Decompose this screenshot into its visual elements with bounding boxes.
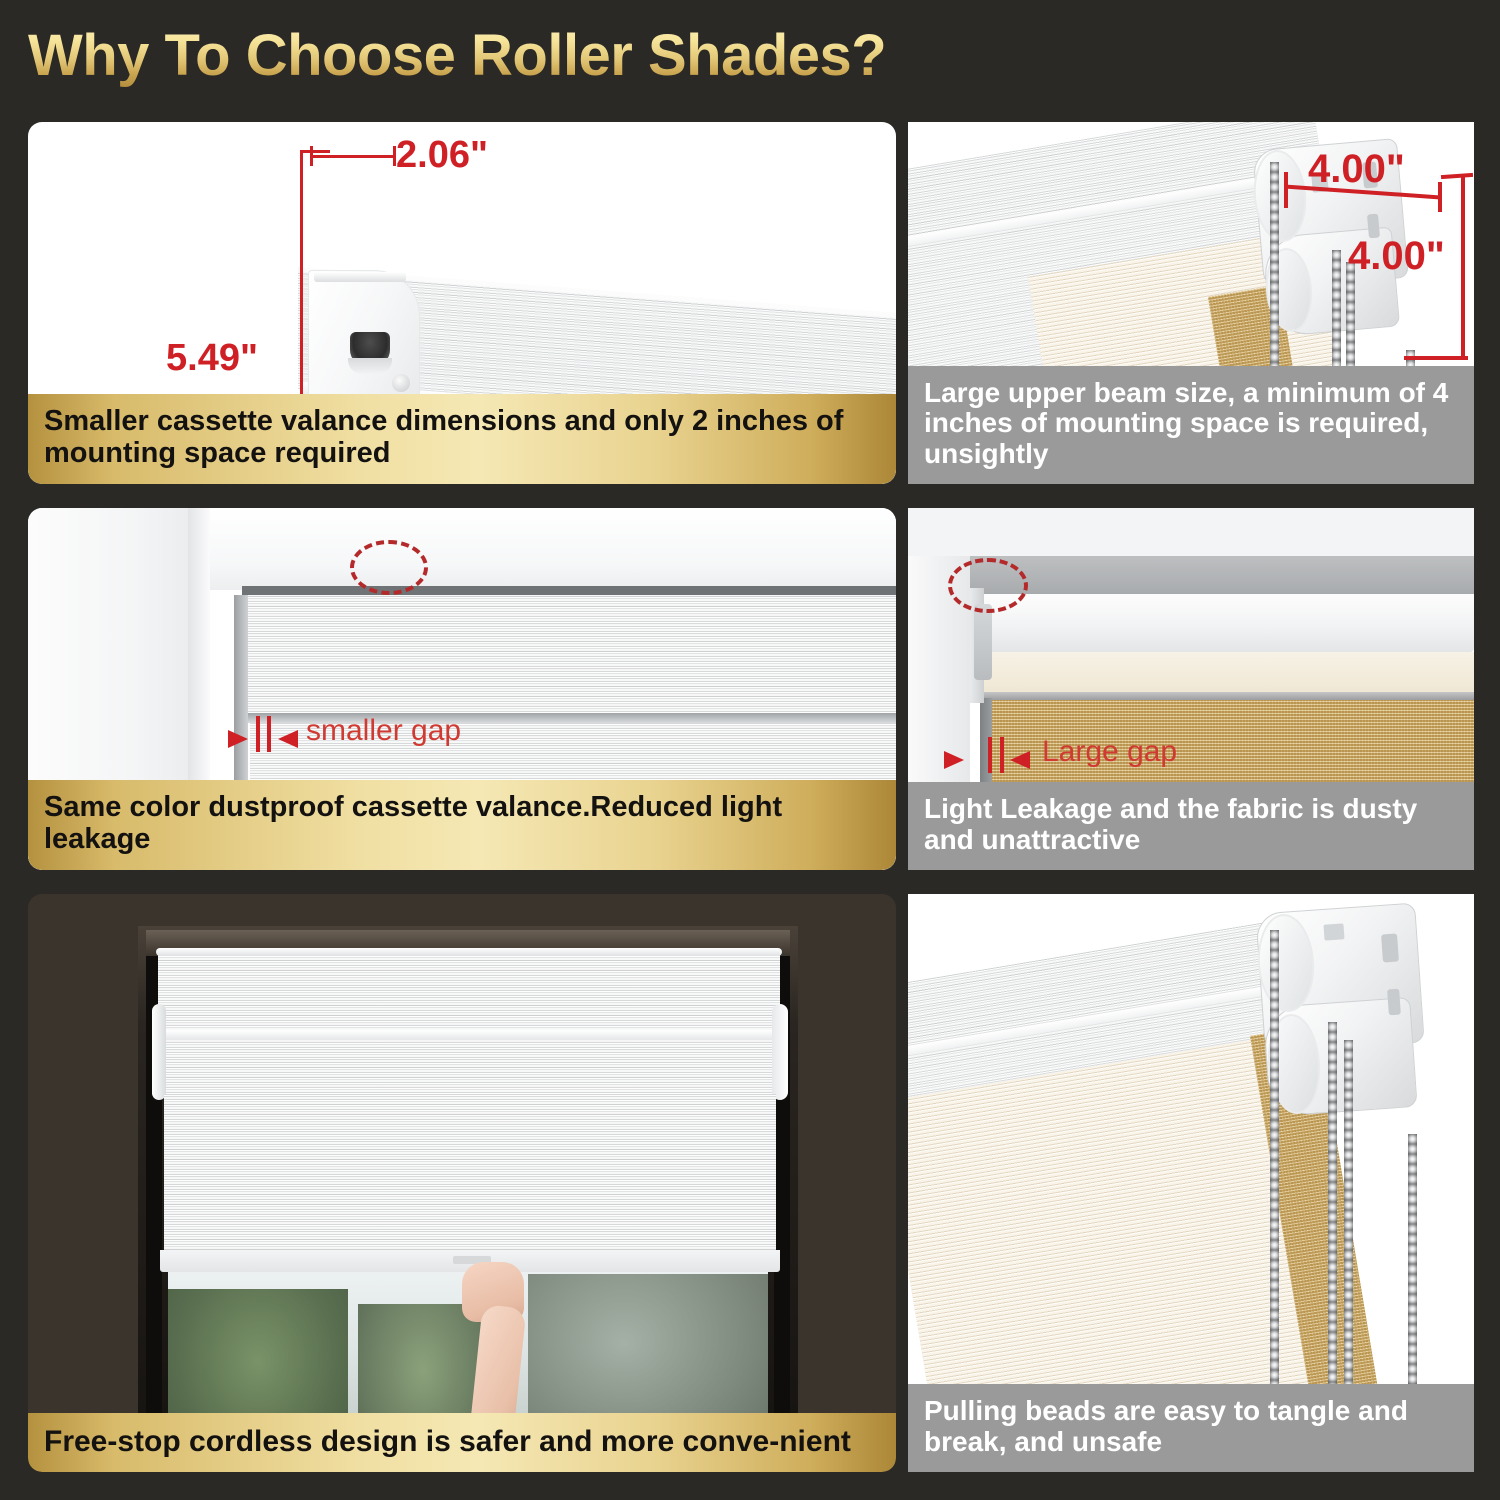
cassette-head-5 <box>158 950 780 1032</box>
valance-end-right <box>772 1004 788 1100</box>
bracket-slot-6-3 <box>1323 923 1344 940</box>
panel-5-caption: Free-stop cordless design is safer and m… <box>28 1413 896 1472</box>
dim-width-tick-left <box>310 146 313 166</box>
gap-arrow-right <box>278 730 298 748</box>
gap-tick-2-4 <box>1000 737 1004 773</box>
panel-2-caption: Large upper beam size, a minimum of 4 in… <box>908 366 1474 484</box>
panel-large-upper-beam: 4.00" 4.00" Large upper beam size, a min… <box>908 122 1474 484</box>
panel-1-caption: Smaller cassette valance dimensions and … <box>28 394 896 484</box>
gap-arrow-left-4 <box>944 751 964 769</box>
dim-height-tick-top <box>300 150 330 153</box>
bracket-slot-6-2 <box>1387 989 1401 1016</box>
bracket-slot-6-1 <box>1381 933 1399 962</box>
dim-width-tick-left-2 <box>1284 172 1288 208</box>
window-frame-top <box>210 508 896 590</box>
cassette-screw-upper <box>392 374 410 392</box>
panel-4-caption: Light Leakage and the fabric is dusty an… <box>908 782 1474 870</box>
cassette-head-seam-5 <box>158 1030 780 1040</box>
dim-height-label: 5.49" <box>166 337 258 380</box>
panel-grid: 2.06" 5.49" Smaller cassette valance dim… <box>0 0 1500 1500</box>
gap-label-smaller: smaller gap <box>306 714 461 748</box>
valance-rail-5 <box>158 1040 780 1094</box>
cassette-top-lip <box>314 272 406 282</box>
shade-body-5 <box>164 1094 776 1266</box>
bracket-clip-4 <box>974 604 992 680</box>
panel-free-stop-cordless: Free-stop cordless design is safer and m… <box>28 894 896 1472</box>
cassette-gap-line <box>242 586 896 595</box>
panel-5-photo <box>28 894 896 1472</box>
panel-3-caption: Same color dustproof cassette valance.Re… <box>28 780 896 870</box>
dim-width-line <box>310 155 396 158</box>
cassette-head-top-5 <box>156 948 782 956</box>
gap-tick-1 <box>256 716 260 752</box>
gap-tick-2 <box>267 716 271 752</box>
gap-label-large: Large gap <box>1042 735 1177 769</box>
panel-pulling-beads: Pulling beads are easy to tangle and bre… <box>908 894 1474 1472</box>
recess-shadow <box>968 556 1474 598</box>
dim-width-label: 2.06" <box>396 134 488 177</box>
cassette-valance-band <box>242 595 896 713</box>
gap-arrow-left <box>228 730 248 748</box>
panel-smaller-cassette: 2.06" 5.49" Smaller cassette valance dim… <box>28 122 896 484</box>
highlight-ellipse-4 <box>948 558 1028 613</box>
dim-width-label-2: 4.00" <box>1308 147 1405 192</box>
infographic-page: Why To Choose Roller Shades? <box>0 0 1500 1500</box>
dim-height-tick-bottom-2 <box>1404 356 1468 360</box>
gap-arrow-right-4 <box>1010 751 1030 769</box>
valance-end-left <box>152 1004 166 1100</box>
panel-light-leakage: Large gap Light Leakage and the fabric i… <box>908 508 1474 870</box>
dim-width-tick-right-2 <box>1438 182 1442 212</box>
panel-dustproof-cassette: smaller gap Same color dustproof cassett… <box>28 508 896 870</box>
dim-height-line-2 <box>1461 174 1465 359</box>
upper-beam <box>970 594 1474 652</box>
dim-height-label-2: 4.00" <box>1348 234 1445 279</box>
highlight-ellipse <box>350 540 428 595</box>
beam-bottom-edge <box>970 692 1474 700</box>
gap-tick-1-4 <box>988 737 992 773</box>
wall-top <box>908 508 1474 556</box>
beam-lower-face <box>970 652 1474 694</box>
panel-6-caption: Pulling beads are easy to tangle and bre… <box>908 1384 1474 1472</box>
cassette-mechanism-lip <box>348 358 392 374</box>
